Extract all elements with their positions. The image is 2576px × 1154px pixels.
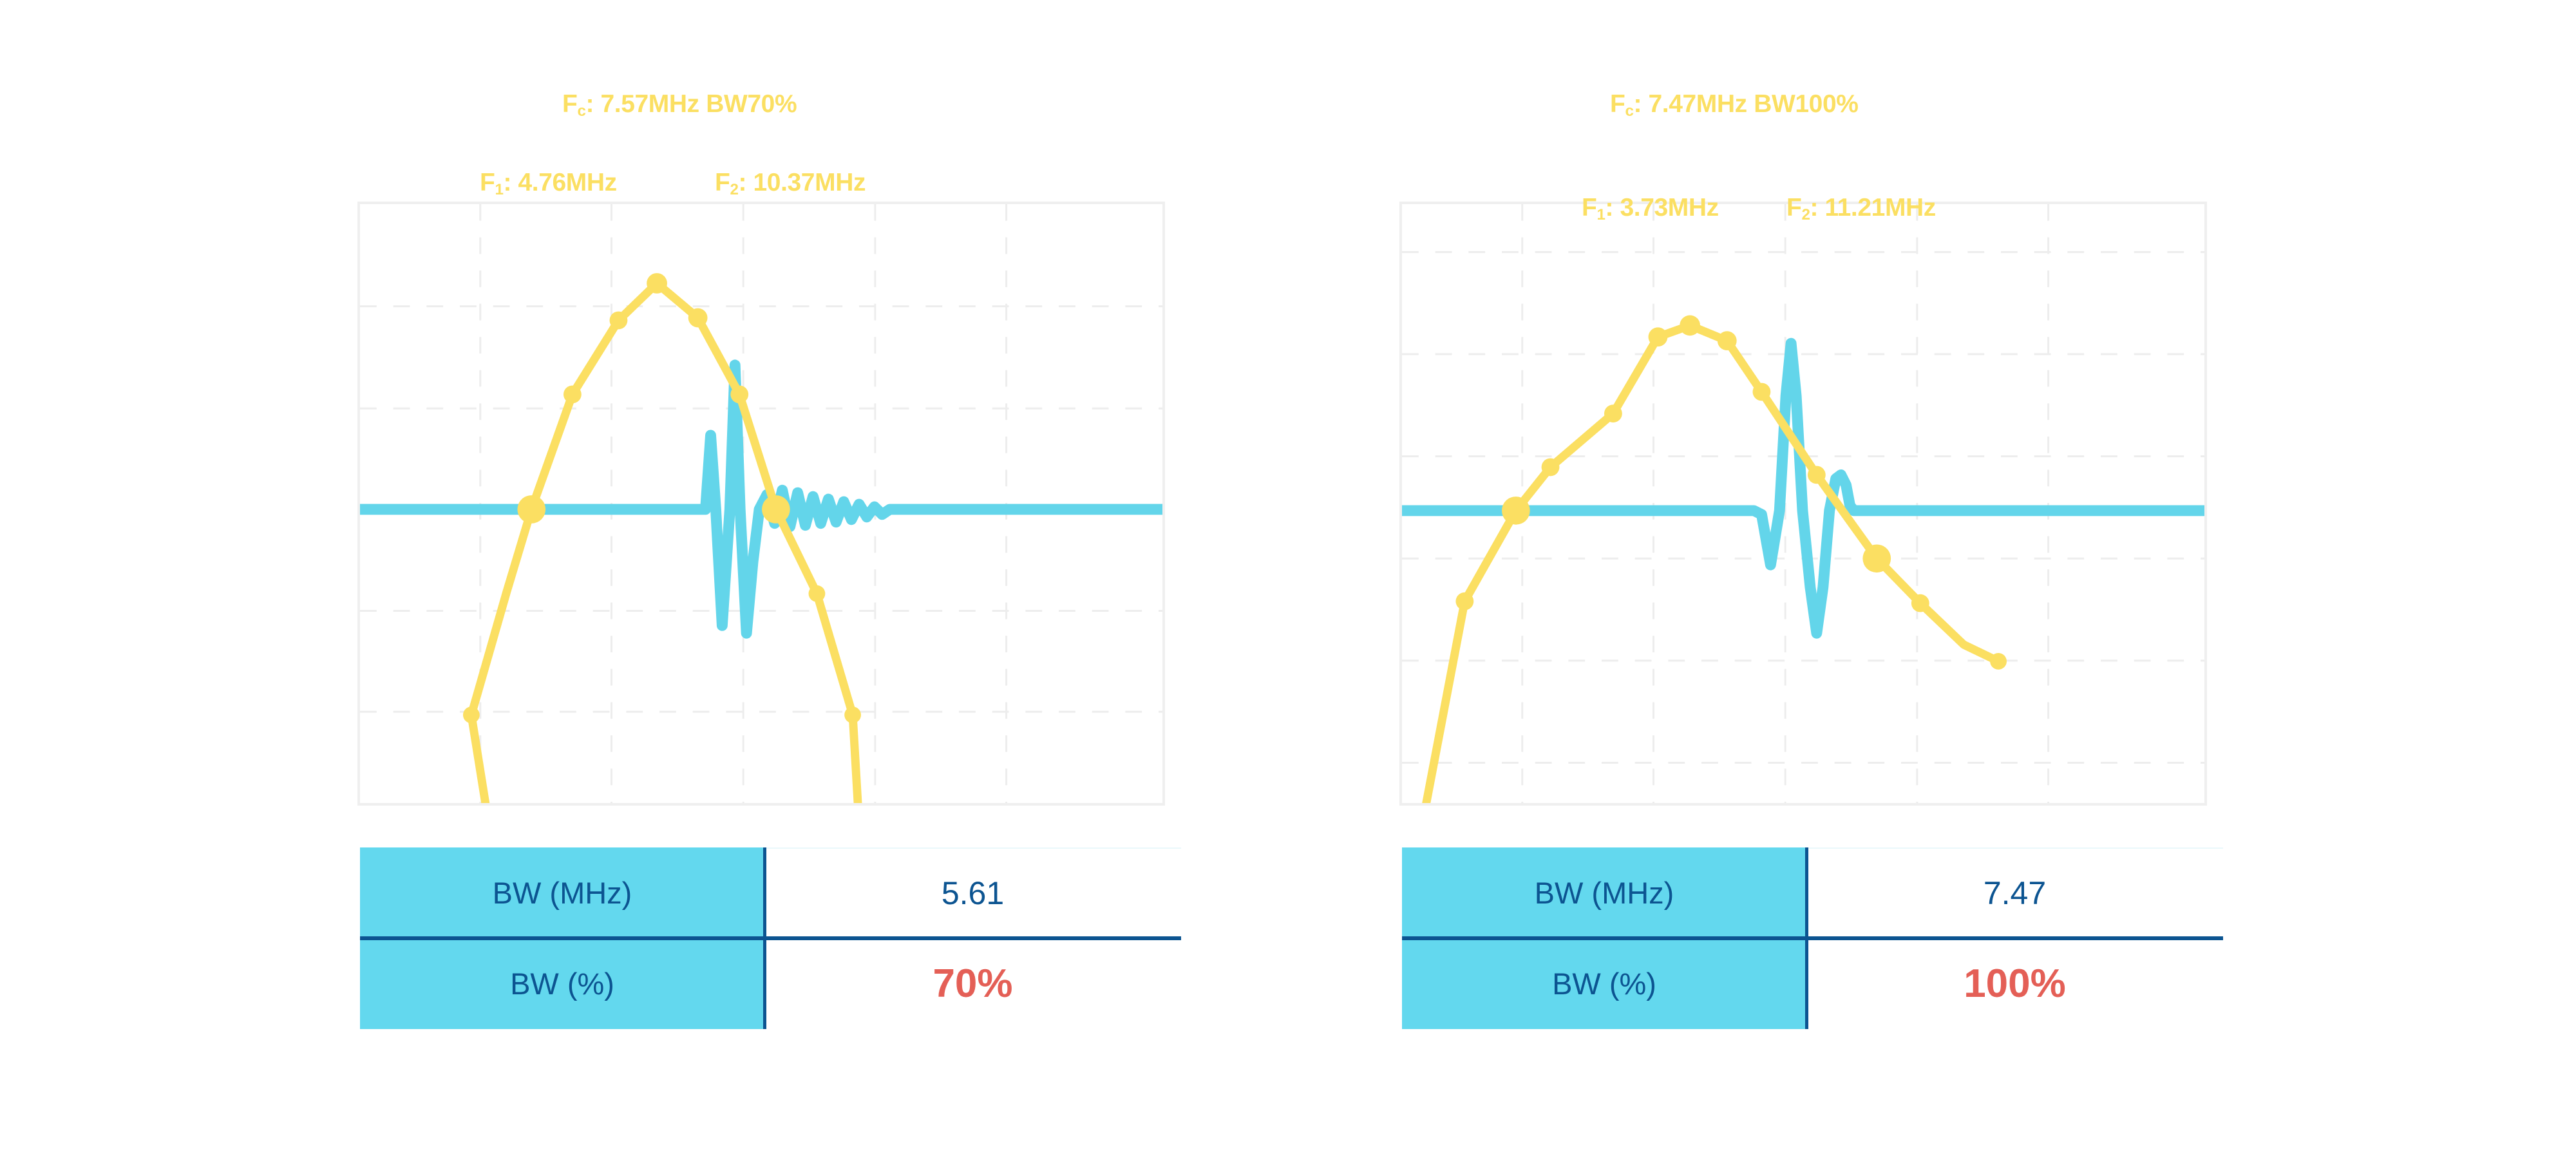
annotation-upper-cutoff-left: F2: 10.37MHz [715,170,866,198]
annot-symbol: F [562,90,577,118]
bw-mhz-label: BW (MHz) [493,875,632,911]
bw-mhz-value: 5.61 [942,875,1004,912]
figure-panel-left: Fc: 7.57MHz BW70% F1: 4.76MHz F2: 10.37M… [335,0,1198,1154]
annot-subscript: 1 [1596,206,1605,223]
table-row: BW (MHz) 5.61 [360,847,1181,938]
annot-text: : 10.37MHz [738,169,866,196]
annot-text: : 4.76MHz [503,169,616,196]
figure-panel-right: Fc: 7.47MHz BW100% F1: 3.73MHz F2: 11.21… [1377,0,2240,1154]
plot-svg-right [1402,204,2204,803]
bandwidth-table-left: BW (MHz) 5.61 BW (%) 70% [360,847,1181,1029]
table-row: BW (%) 100% [1402,938,2223,1029]
annotation-lower-cutoff-right: F1: 3.73MHz [1582,195,1719,223]
bw-mhz-label-cell: BW (MHz) [360,847,764,938]
plot-svg-left [360,204,1162,803]
bw-percent-value-cell: 100% [1806,938,2223,1029]
chart-panel-left [357,202,1165,806]
bw-percent-label-cell: BW (%) [360,938,764,1029]
spectrum-markers-right [1455,316,2007,670]
annot-subscript: 2 [730,181,738,198]
table-top-hairline [764,847,1181,849]
annotation-center-frequency-right: Fc: 7.47MHz BW100% [1610,91,1859,119]
annot-subscript: 2 [1801,206,1810,223]
annot-text: : 7.57MHz BW70% [585,90,797,118]
plot-area-right [1402,204,2204,803]
annot-symbol: F [480,169,495,196]
bw-percent-label-cell: BW (%) [1402,938,1806,1029]
table-top-hairline [1806,847,2223,849]
annotation-upper-cutoff-right: F2: 11.21MHz [1786,195,1936,223]
table-horizontal-rule [1402,936,2223,940]
spectrum-trace-left [463,273,861,803]
bw-mhz-label-cell: BW (MHz) [1402,847,1806,938]
plot-area-left [360,204,1162,803]
chart-panel-right [1399,202,2207,806]
bw-mhz-label: BW (MHz) [1535,875,1674,911]
figure-canvas: Fc: 7.57MHz BW70% F1: 4.76MHz F2: 10.37M… [0,0,2576,1154]
bw-mhz-value-cell: 5.61 [764,847,1181,938]
table-horizontal-rule [360,936,1181,940]
bw-percent-label: BW (%) [1552,966,1656,1001]
bw-percent-value: 70% [933,961,1012,1007]
annot-text: : 7.47MHz BW100% [1633,90,1858,118]
bandwidth-table-right: BW (MHz) 7.47 BW (%) 100% [1402,847,2223,1029]
annot-symbol: F [1786,194,1801,222]
annot-subscript: c [577,102,585,120]
bw-percent-value-cell: 70% [764,938,1181,1029]
annotation-lower-cutoff-left: F1: 4.76MHz [480,170,617,198]
pulse-trace-right [1402,343,2204,633]
bw-mhz-value: 7.47 [1984,875,2046,912]
table-row: BW (MHz) 7.47 [1402,847,2223,938]
annot-symbol: F [1610,90,1625,118]
table-row: BW (%) 70% [360,938,1181,1029]
annot-subscript: c [1625,102,1633,120]
annot-text: : 3.73MHz [1605,194,1718,222]
annot-subscript: 1 [495,181,503,198]
annot-symbol: F [715,169,730,196]
bw-percent-label: BW (%) [510,966,614,1001]
annot-symbol: F [1582,194,1596,222]
bw-mhz-value-cell: 7.47 [1806,847,2223,938]
bw-percent-value: 100% [1964,961,2066,1007]
annotation-center-frequency-left: Fc: 7.57MHz BW70% [562,91,797,119]
annot-text: : 11.21MHz [1810,194,1935,222]
